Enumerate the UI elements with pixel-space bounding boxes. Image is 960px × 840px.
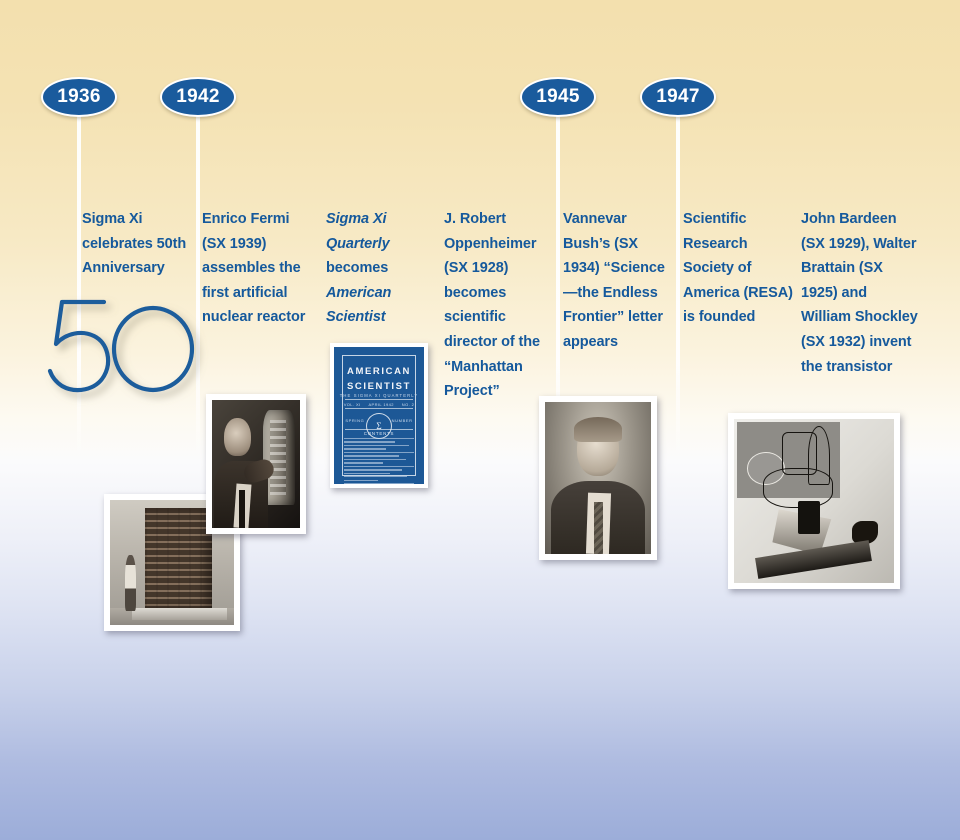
entry-text-italic-2: American Scientist bbox=[326, 285, 391, 326]
magazine-right-tag: NUMBER bbox=[392, 418, 413, 423]
connector-line-1936 bbox=[77, 100, 81, 465]
entry-text: Vannevar Bush’s (SX 1934) “Science—the E… bbox=[563, 211, 665, 350]
year-label: 1947 bbox=[656, 87, 699, 107]
year-marker-1942[interactable]: 1942 bbox=[160, 77, 236, 117]
connector-line-1942 bbox=[196, 100, 200, 465]
first-transistor-photo bbox=[728, 413, 900, 589]
year-label: 1942 bbox=[176, 87, 219, 107]
entry-text-normal: becomes bbox=[326, 260, 388, 276]
vannevar-bush-photo bbox=[539, 396, 657, 560]
american-scientist-cover: AMERICAN SCIENTIST THE SIGMA XI QUARTERL… bbox=[330, 343, 428, 488]
entry-text: Sigma Xi celebrates 50th Anniversary bbox=[82, 211, 186, 276]
magazine-contents-lines bbox=[344, 438, 415, 476]
entry-text: John Bardeen (SX 1929), Walter Brattain … bbox=[801, 211, 918, 375]
year-label: 1936 bbox=[57, 87, 100, 107]
entry-resa-text: Scientific Research Society of America (… bbox=[683, 207, 801, 330]
magazine-title-line1: AMERICAN bbox=[337, 366, 421, 378]
enrico-fermi-photo bbox=[206, 394, 306, 534]
year-marker-1945[interactable]: 1945 bbox=[520, 77, 596, 117]
magazine-title-line2: SCIENTIST bbox=[337, 381, 421, 393]
magazine-contents-heading: CONTENTS bbox=[337, 431, 421, 436]
entry-quarterly-text: Sigma Xi Quarterly becomes American Scie… bbox=[326, 207, 436, 330]
timeline-figure: 1936 1942 1945 1947 Sigma Xi celebrates … bbox=[0, 0, 960, 840]
entry-text: Scientific Research Society of America (… bbox=[683, 211, 793, 325]
entry-text: Enrico Fermi (SX 1939) assembles the fir… bbox=[202, 211, 305, 325]
entry-text-italic-1: Sigma Xi Quarterly bbox=[326, 211, 390, 252]
entry-text: J. Robert Oppenheimer (SX 1928) becomes … bbox=[444, 211, 540, 399]
year-marker-1936[interactable]: 1936 bbox=[41, 77, 117, 117]
magazine-date: APRIL 1942 bbox=[368, 402, 393, 407]
magazine-left-tag: SPRING bbox=[345, 418, 364, 423]
entry-1936-text: Sigma Xi celebrates 50th Anniversary bbox=[82, 207, 187, 281]
magazine-volume: VOL. XI bbox=[344, 402, 361, 407]
magazine-issue: NO. 2 bbox=[402, 402, 414, 407]
year-marker-1947[interactable]: 1947 bbox=[640, 77, 716, 117]
fiftieth-anniversary-mark bbox=[36, 292, 206, 402]
year-label: 1945 bbox=[536, 87, 579, 107]
entry-bush-text: Vannevar Bush’s (SX 1934) “Science—the E… bbox=[563, 207, 675, 355]
entry-transistor-text: John Bardeen (SX 1929), Walter Brattain … bbox=[801, 207, 919, 379]
entry-oppenheimer-text: J. Robert Oppenheimer (SX 1928) becomes … bbox=[444, 207, 556, 404]
entry-fermi-text: Enrico Fermi (SX 1939) assembles the fir… bbox=[202, 207, 306, 330]
connector-line-1947 bbox=[676, 100, 680, 465]
magazine-subtitle: THE SIGMA XI QUARTERLY bbox=[337, 393, 421, 398]
